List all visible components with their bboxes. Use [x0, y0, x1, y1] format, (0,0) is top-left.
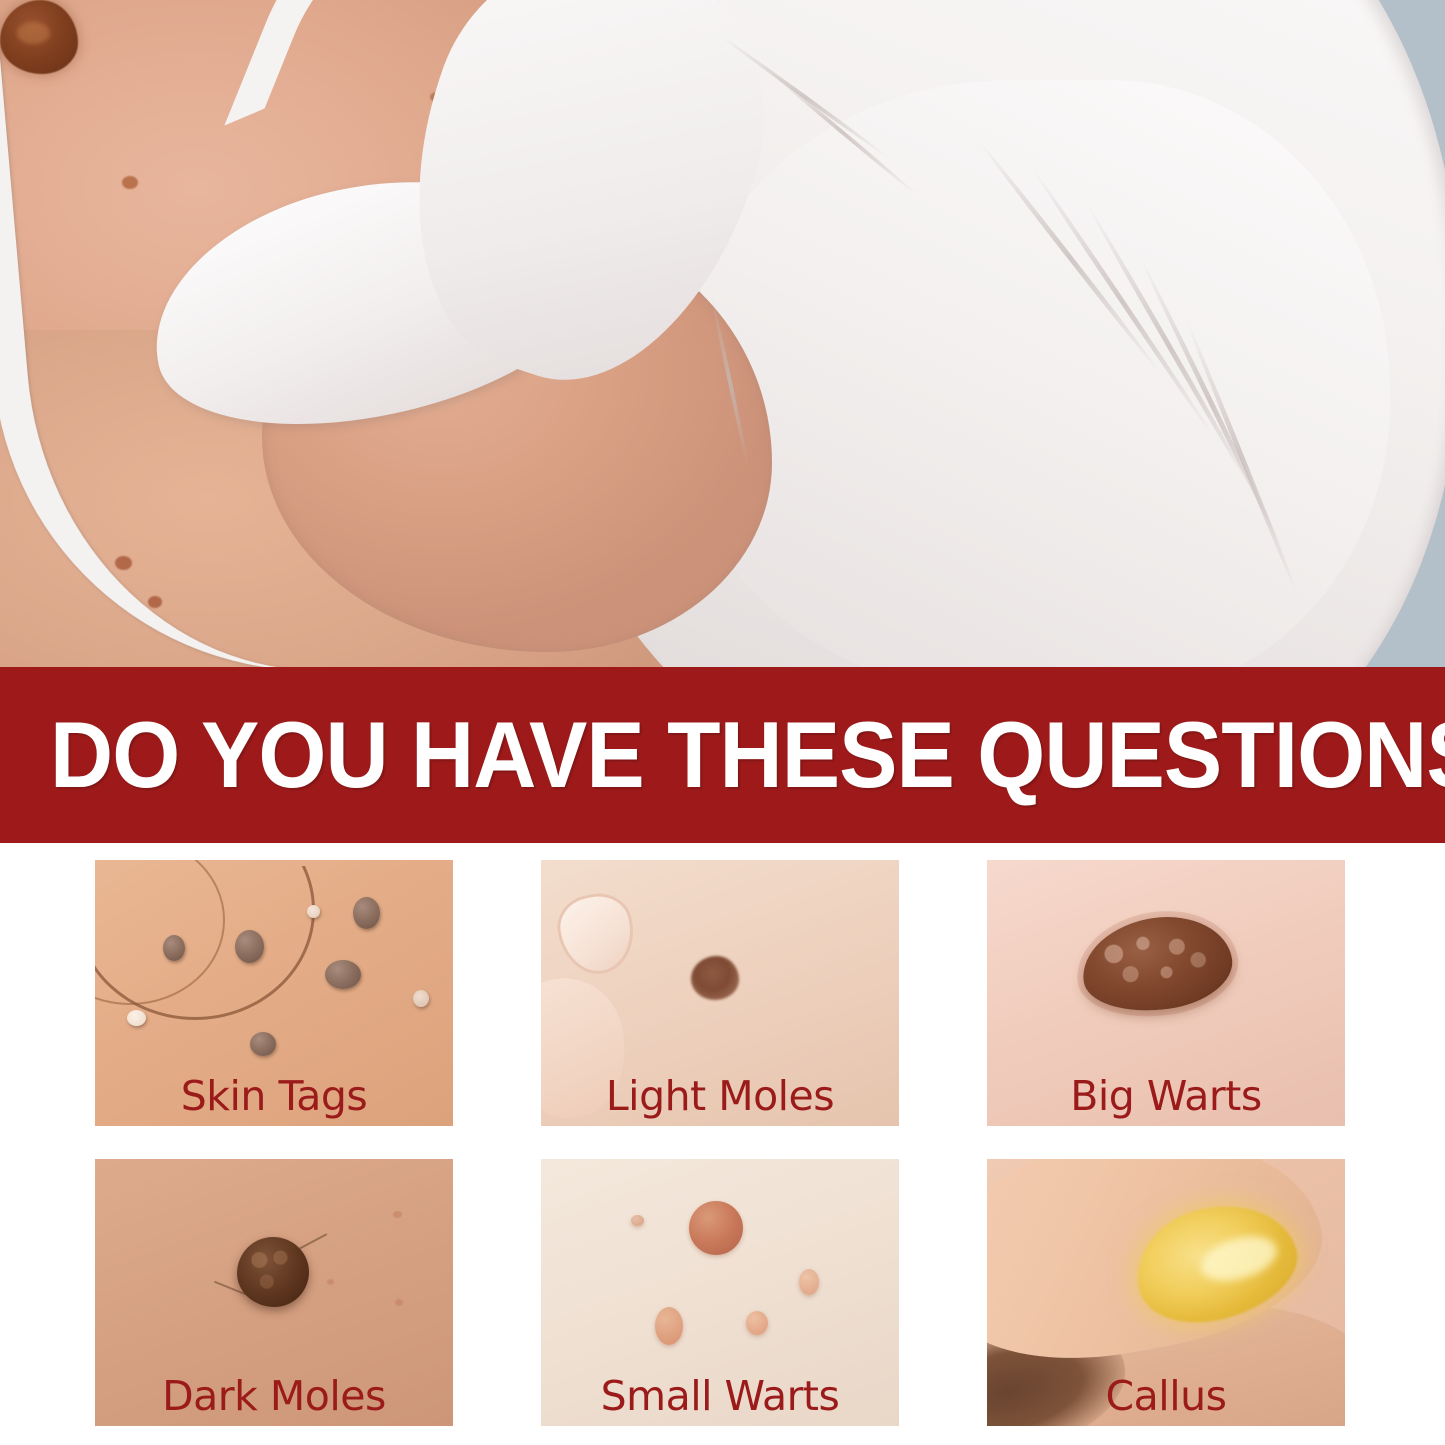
hero-image	[0, 0, 1445, 667]
headline-banner: DO YOU HAVE THESE QUESTIONS	[0, 667, 1445, 843]
condition-tile-skin-tags[interactable]: Skin Tags	[95, 860, 453, 1126]
condition-tile-light-moles[interactable]: Light Moles	[541, 860, 899, 1126]
tile-label: Small Warts	[541, 1375, 899, 1418]
condition-tile-dark-moles[interactable]: Dark Moles	[95, 1159, 453, 1426]
glove-knuckles	[690, 80, 1390, 667]
banner-title: DO YOU HAVE THESE QUESTIONS	[50, 708, 1445, 802]
tile-label: Dark Moles	[95, 1375, 453, 1418]
condition-tile-big-warts[interactable]: Big Warts	[987, 860, 1345, 1126]
condition-tile-callus[interactable]: Callus	[987, 1159, 1345, 1426]
tile-label: Big Warts	[987, 1075, 1345, 1118]
tile-label: Callus	[987, 1375, 1345, 1418]
tile-label: Skin Tags	[95, 1075, 453, 1118]
tile-label: Light Moles	[541, 1075, 899, 1118]
condition-tile-small-warts[interactable]: Small Warts	[541, 1159, 899, 1426]
condition-grid: Skin Tags Light Moles Big Warts Dark Mol…	[0, 843, 1445, 1445]
